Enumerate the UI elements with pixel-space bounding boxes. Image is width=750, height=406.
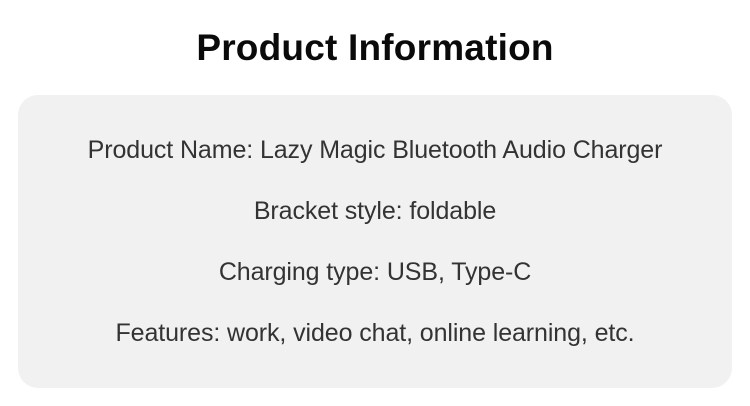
spec-row-charging-type: Charging type: USB, Type-C	[28, 242, 722, 303]
product-information-page: Product Information Product Name: Lazy M…	[0, 0, 750, 406]
spec-list: Product Name: Lazy Magic Bluetooth Audio…	[28, 120, 722, 364]
page-title: Product Information	[0, 26, 750, 70]
spec-row-bracket-style: Bracket style: foldable	[28, 181, 722, 242]
spec-row-features: Features: work, video chat, online learn…	[28, 303, 722, 364]
spec-row-product-name: Product Name: Lazy Magic Bluetooth Audio…	[28, 120, 722, 181]
product-info-card: Product Name: Lazy Magic Bluetooth Audio…	[18, 95, 732, 388]
